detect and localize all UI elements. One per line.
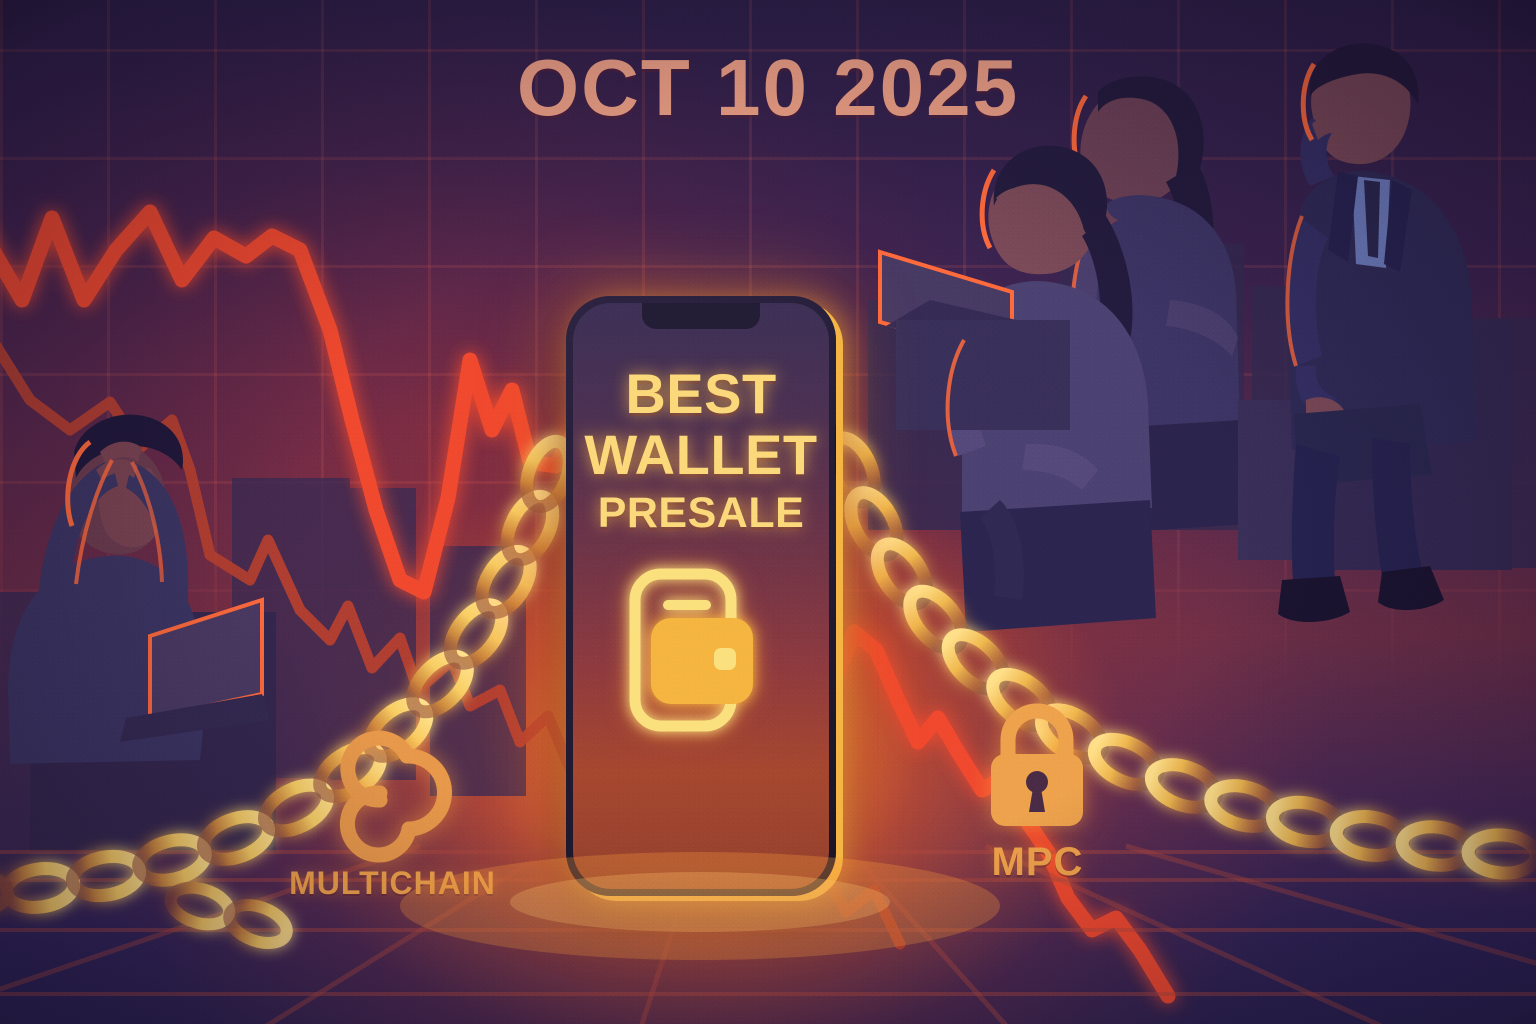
promo-banner-scene: OCT 10 2025 BEST WALLET PRESALE [0,0,1536,1024]
vignette-overlay [0,0,1536,1024]
